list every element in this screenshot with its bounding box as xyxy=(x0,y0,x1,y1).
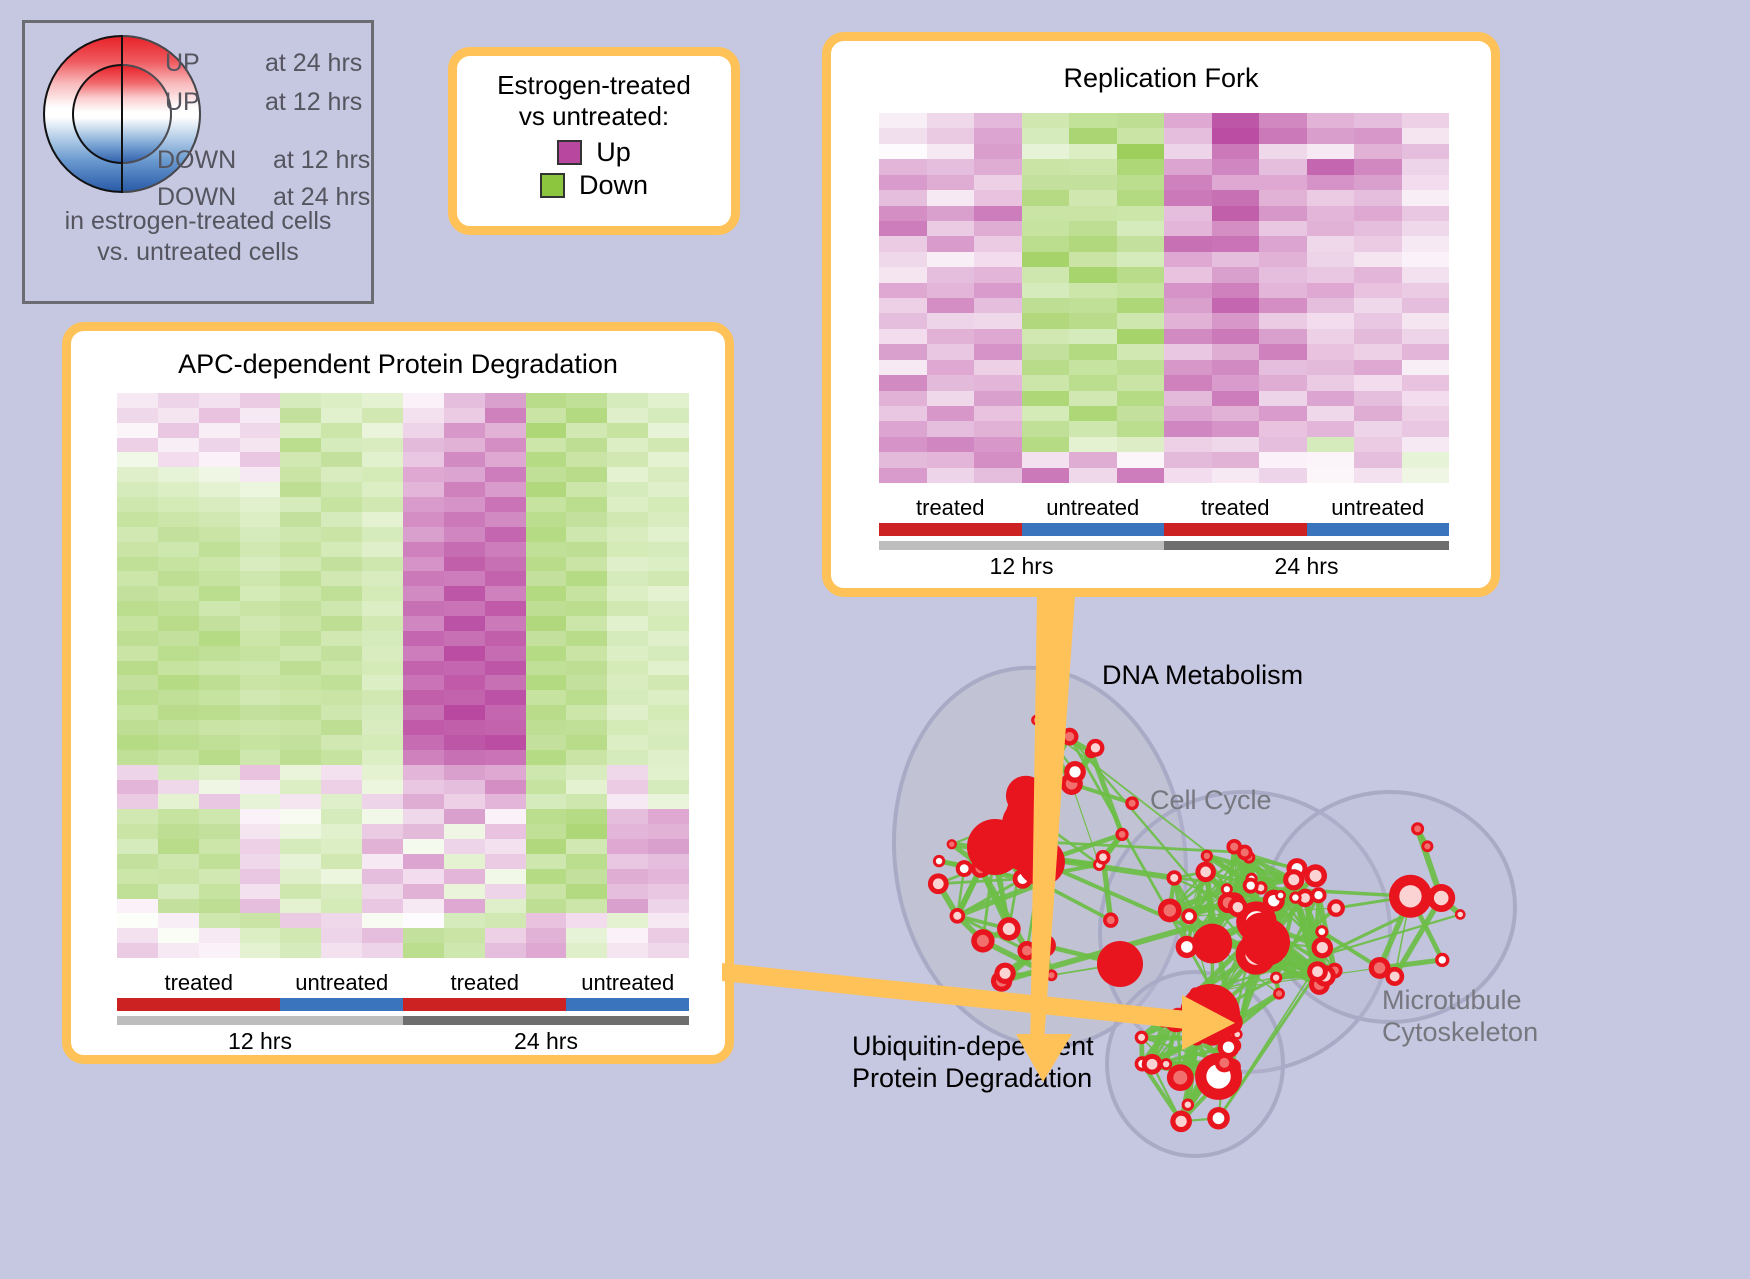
heatmap-cell xyxy=(240,467,281,482)
heatmap-cell xyxy=(444,646,485,661)
heatmap-cell xyxy=(485,571,526,586)
network-node[interactable] xyxy=(1218,892,1239,913)
heatmap-cell xyxy=(1354,252,1402,267)
network-node[interactable] xyxy=(1002,798,1054,850)
network-node[interactable] xyxy=(1167,1064,1194,1091)
heatmap-cell xyxy=(1354,128,1402,143)
network-edge xyxy=(1318,972,1326,976)
network-node[interactable] xyxy=(1455,909,1466,920)
network-edge xyxy=(1206,872,1262,931)
heatmap-cell xyxy=(1307,421,1355,436)
network-node[interactable] xyxy=(1195,862,1216,883)
network-edge xyxy=(952,844,1174,878)
heatmap-cell xyxy=(526,720,567,735)
heatmap-cell xyxy=(607,913,648,928)
network-edge xyxy=(1219,972,1318,1119)
network-node[interactable] xyxy=(1093,858,1106,871)
network-node[interactable] xyxy=(1314,965,1336,987)
heatmap-cell xyxy=(648,780,689,795)
heatmap-cell xyxy=(648,571,689,586)
network-edge xyxy=(1206,856,1207,872)
heatmap-cell xyxy=(117,557,158,572)
network-node[interactable] xyxy=(971,856,992,877)
network-edge xyxy=(1228,852,1245,902)
network-node[interactable] xyxy=(1296,889,1315,908)
network-node[interactable] xyxy=(991,970,1012,991)
heatmap-cell xyxy=(403,735,444,750)
network-node[interactable] xyxy=(1243,851,1255,863)
heatmap-cell xyxy=(1022,159,1070,174)
network-node[interactable] xyxy=(1289,891,1301,903)
heatmap-cell xyxy=(362,542,403,557)
network-node[interactable] xyxy=(1160,1058,1172,1070)
heatmap-cell xyxy=(158,675,199,690)
heatmap-cell xyxy=(566,452,607,467)
heatmap-cell xyxy=(1022,252,1070,267)
network-node[interactable] xyxy=(1225,1028,1235,1038)
network-node[interactable] xyxy=(1221,883,1233,895)
network-edge xyxy=(1037,720,1075,772)
network-node[interactable] xyxy=(928,873,949,894)
network-node[interactable] xyxy=(1034,877,1046,889)
heatmap-cell xyxy=(1212,298,1260,313)
network-edge xyxy=(1210,978,1276,1014)
heatmap-cell xyxy=(362,616,403,631)
heatmap-cell xyxy=(1212,190,1260,205)
network-node[interactable] xyxy=(1217,1036,1239,1058)
network-node[interactable] xyxy=(971,859,990,878)
network-node[interactable] xyxy=(1018,838,1065,885)
network-node[interactable] xyxy=(1060,773,1082,795)
network-node[interactable] xyxy=(1236,934,1277,975)
network-node[interactable] xyxy=(1006,839,1038,871)
heatmap-cell xyxy=(1069,360,1117,375)
network-node[interactable] xyxy=(1061,728,1079,746)
heatmap-cell xyxy=(1022,360,1070,375)
network-node[interactable] xyxy=(971,929,994,952)
heatmap-cell xyxy=(1069,283,1117,298)
heatmap-cell xyxy=(199,497,240,512)
network-node[interactable] xyxy=(947,839,957,849)
network-node[interactable] xyxy=(1421,840,1433,852)
heatmap-cell xyxy=(1402,144,1450,159)
network-node[interactable] xyxy=(1369,957,1391,979)
network-node[interactable] xyxy=(1309,974,1330,995)
network-node[interactable] xyxy=(1103,912,1118,927)
network-node[interactable] xyxy=(1180,984,1240,1044)
network-edge xyxy=(1180,1009,1199,1077)
heatmap-cell xyxy=(607,765,648,780)
heatmap-cell xyxy=(566,482,607,497)
network-edge xyxy=(1252,879,1294,880)
network-node[interactable] xyxy=(1064,761,1086,783)
network-edge xyxy=(983,929,1009,941)
network-edge xyxy=(980,868,1008,929)
network-node[interactable] xyxy=(950,908,966,924)
network-node[interactable] xyxy=(1192,924,1232,964)
heatmap-cell xyxy=(158,720,199,735)
heatmap-cell xyxy=(927,406,975,421)
network-node[interactable] xyxy=(1245,873,1257,885)
network-node[interactable] xyxy=(1307,961,1328,982)
network-node[interactable] xyxy=(1176,936,1198,958)
network-edge xyxy=(1210,1014,1213,1035)
heatmap-cell xyxy=(321,601,362,616)
heatmap-cell xyxy=(526,646,567,661)
network-node[interactable] xyxy=(933,855,945,867)
heatmap-cell xyxy=(199,869,240,884)
network-node[interactable] xyxy=(1142,1054,1163,1075)
network-node[interactable] xyxy=(1013,797,1047,831)
heatmap-cell xyxy=(240,675,281,690)
heatmap-cell xyxy=(648,646,689,661)
heatmap-cell xyxy=(566,423,607,438)
network-node[interactable] xyxy=(1308,963,1321,976)
network-edge xyxy=(1023,862,1042,879)
heatmap-cell xyxy=(199,794,240,809)
heatmap-cell xyxy=(444,839,485,854)
network-edge xyxy=(1418,829,1442,898)
heatmap-cell xyxy=(1117,252,1165,267)
heatmap-cell xyxy=(199,452,240,467)
heatmap-cell xyxy=(158,393,199,408)
network-node[interactable] xyxy=(1006,776,1046,816)
network-node[interactable] xyxy=(1135,1056,1150,1071)
heatmap-cell xyxy=(526,690,567,705)
network-node[interactable] xyxy=(1170,1111,1192,1133)
heatmap-cell xyxy=(927,375,975,390)
heatmap-cell xyxy=(1402,344,1450,359)
heatmap-cell xyxy=(362,765,403,780)
network-node[interactable] xyxy=(1275,890,1286,901)
heatmap-cell xyxy=(403,571,444,586)
heatmap-cell xyxy=(158,512,199,527)
heatmap-cell xyxy=(927,360,975,375)
network-edge xyxy=(1189,916,1256,954)
heatmap-cell xyxy=(879,344,927,359)
network-node[interactable] xyxy=(1242,918,1290,966)
heatmap-cell xyxy=(927,144,975,159)
heatmap-cell xyxy=(117,705,158,720)
heatmap-cell xyxy=(1069,206,1117,221)
network-node[interactable] xyxy=(1270,972,1282,984)
network-edge xyxy=(1336,896,1410,908)
heatmap-cell xyxy=(240,631,281,646)
network-node[interactable] xyxy=(1232,1029,1243,1040)
heatmap-cell xyxy=(321,943,362,958)
network-node[interactable] xyxy=(1006,792,1052,838)
heatmap-cell xyxy=(321,794,362,809)
heatmap-cell xyxy=(1117,344,1165,359)
network-node[interactable] xyxy=(1190,987,1202,999)
heatmap-cell xyxy=(403,765,444,780)
network-node[interactable] xyxy=(1263,890,1285,912)
heatmap-cell xyxy=(879,128,927,143)
heatmap-cell xyxy=(1022,406,1070,421)
heatmap-cell xyxy=(1212,391,1260,406)
network-edge xyxy=(1251,886,1296,898)
network-edge xyxy=(1251,886,1281,896)
network-edge xyxy=(1234,903,1266,942)
legend-item-up: Up xyxy=(457,137,731,168)
network-edge xyxy=(1238,886,1251,908)
heatmap-cell xyxy=(117,824,158,839)
network-node[interactable] xyxy=(1243,878,1259,894)
network-edge xyxy=(957,883,1040,916)
heatmap-cell xyxy=(403,943,444,958)
heatmap-cell xyxy=(648,869,689,884)
heatmap-cell xyxy=(566,869,607,884)
network-node[interactable] xyxy=(1435,953,1449,967)
network-node[interactable] xyxy=(1201,850,1213,862)
network-node[interactable] xyxy=(988,839,1007,858)
network-node[interactable] xyxy=(1311,887,1327,903)
heatmap-cell xyxy=(1069,175,1117,190)
network-edge xyxy=(1189,879,1251,917)
network-node[interactable] xyxy=(1273,988,1285,1000)
cluster-halo xyxy=(1107,972,1283,1156)
network-edge xyxy=(1234,886,1251,904)
heatmap-cell xyxy=(321,928,362,943)
heatmap-cell xyxy=(1022,221,1070,236)
heatmap-cell xyxy=(1212,313,1260,328)
network-node[interactable] xyxy=(1226,1059,1241,1074)
heatmap-cell xyxy=(879,236,927,251)
heatmap-cell xyxy=(1164,437,1212,452)
heatmap-cell xyxy=(1402,298,1450,313)
network-node[interactable] xyxy=(1017,941,1036,960)
network-node[interactable] xyxy=(1167,870,1182,885)
network-node[interactable] xyxy=(1097,941,1143,987)
heatmap-cell xyxy=(1022,113,1070,128)
heatmap-cell xyxy=(1022,175,1070,190)
network-node[interactable] xyxy=(994,963,1015,984)
network-node[interactable] xyxy=(1304,864,1327,887)
heatmap-cell xyxy=(1212,329,1260,344)
heatmap-cell xyxy=(321,780,362,795)
heatmap-cell xyxy=(280,408,321,423)
heatmap-cell xyxy=(879,267,927,282)
network-node[interactable] xyxy=(1254,881,1267,894)
heatmap-cell xyxy=(403,631,444,646)
network-edge xyxy=(1030,814,1041,884)
network-edge xyxy=(997,848,1041,883)
network-edge xyxy=(1206,872,1231,1022)
heatmap-cell xyxy=(648,438,689,453)
heatmap-cell xyxy=(1022,283,1070,298)
network-node[interactable] xyxy=(1181,908,1197,924)
heatmap-cell xyxy=(1259,113,1307,128)
network-node[interactable] xyxy=(1219,1010,1243,1034)
heatmap-cell xyxy=(974,437,1022,452)
network-node[interactable] xyxy=(1115,828,1128,841)
network-node[interactable] xyxy=(1411,822,1424,835)
heatmap-cell xyxy=(158,497,199,512)
network-edge xyxy=(1266,942,1318,972)
heatmap-cell xyxy=(1117,421,1165,436)
network-node[interactable] xyxy=(1312,937,1334,959)
network-node[interactable] xyxy=(1327,963,1343,979)
network-node[interactable] xyxy=(1031,715,1042,726)
heatmap-cell xyxy=(485,438,526,453)
network-node[interactable] xyxy=(1192,1002,1207,1017)
network-edge xyxy=(980,814,1029,869)
network-node[interactable] xyxy=(1215,1053,1234,1072)
network-node[interactable] xyxy=(1228,897,1248,917)
heatmap-cell xyxy=(403,393,444,408)
estrogen-legend-title: Estrogen-treated vs untreated: xyxy=(457,56,731,131)
heatmap-cell xyxy=(1402,391,1450,406)
network-node[interactable] xyxy=(1032,934,1056,958)
heatmap-cell xyxy=(199,482,240,497)
network-node[interactable] xyxy=(1156,1011,1173,1028)
heatmap-cell xyxy=(1164,252,1212,267)
group-label: untreated xyxy=(1307,495,1450,521)
heatmap-cell xyxy=(280,452,321,467)
network-node[interactable] xyxy=(1085,745,1098,758)
heatmap-cell xyxy=(607,586,648,601)
heatmap-cell xyxy=(879,298,927,313)
network-node[interactable] xyxy=(1226,1038,1241,1053)
network-edge xyxy=(1228,903,1261,932)
network-edge xyxy=(1027,946,1044,951)
network-edge xyxy=(1170,852,1245,910)
heatmap-cell xyxy=(117,646,158,661)
network-node[interactable] xyxy=(1195,1053,1242,1100)
network-node[interactable] xyxy=(977,827,1000,850)
heatmap-cell xyxy=(1259,298,1307,313)
heatmap-cell xyxy=(117,750,158,765)
network-node[interactable] xyxy=(1182,1098,1194,1110)
heatmap-cell xyxy=(362,586,403,601)
network-node[interactable] xyxy=(1287,858,1308,879)
heatmap-cell xyxy=(444,690,485,705)
network-node[interactable] xyxy=(1236,901,1277,942)
heatmap-cell xyxy=(1117,221,1165,236)
heatmap-cell xyxy=(927,437,975,452)
network-node[interactable] xyxy=(1086,739,1104,757)
network-node[interactable] xyxy=(1327,899,1345,917)
heatmap-cell xyxy=(1354,206,1402,221)
heatmap-cell xyxy=(607,646,648,661)
heatmap-cell xyxy=(485,884,526,899)
network-node[interactable] xyxy=(1158,898,1182,922)
network-edge xyxy=(1022,855,1099,865)
heatmap-cell xyxy=(526,527,567,542)
heatmap-cell xyxy=(879,406,927,421)
heatmap-cell xyxy=(403,482,444,497)
network-node[interactable] xyxy=(956,860,973,877)
network-edge xyxy=(1295,898,1319,985)
heatmap-cell xyxy=(485,661,526,676)
heatmap-cell xyxy=(117,527,158,542)
network-node[interactable] xyxy=(1223,892,1245,914)
heatmap-cell xyxy=(566,750,607,765)
network-edge xyxy=(1196,978,1277,994)
heatmap-cell xyxy=(240,542,281,557)
heatmap-cell xyxy=(927,421,975,436)
up-label: Up xyxy=(596,137,631,168)
heatmap-cell xyxy=(117,928,158,943)
apc-time-bar xyxy=(117,1016,689,1025)
heatmap-cell xyxy=(444,794,485,809)
heatmap-cell xyxy=(1069,252,1117,267)
network-node[interactable] xyxy=(1283,869,1304,890)
heatmap-cell xyxy=(526,750,567,765)
heatmap-cell xyxy=(566,913,607,928)
network-node[interactable] xyxy=(1125,796,1139,810)
network-node[interactable] xyxy=(997,917,1021,941)
network-node[interactable] xyxy=(1315,925,1328,938)
group-label: untreated xyxy=(566,970,689,996)
network-node[interactable] xyxy=(1237,845,1253,861)
heatmap-cell xyxy=(321,393,362,408)
heatmap-cell xyxy=(566,542,607,557)
heatmap-cell xyxy=(974,406,1022,421)
network-node[interactable] xyxy=(1427,884,1455,912)
network-edge xyxy=(1152,1047,1228,1064)
network-edge xyxy=(1274,901,1276,978)
heatmap-cell xyxy=(321,616,362,631)
network-edge xyxy=(1103,857,1111,920)
network-edge xyxy=(1245,852,1257,921)
heatmap-cell xyxy=(607,809,648,824)
heatmap-cell xyxy=(280,690,321,705)
heatmap-cell xyxy=(321,824,362,839)
network-edge xyxy=(1245,852,1266,942)
network-edge xyxy=(939,861,980,868)
heatmap-cell xyxy=(648,586,689,601)
heatmap-cell xyxy=(879,360,927,375)
group-label: untreated xyxy=(280,970,403,996)
heatmap-cell xyxy=(607,943,648,958)
network-edge xyxy=(1256,922,1322,948)
network-node[interactable] xyxy=(1190,1031,1204,1045)
heatmap-cell xyxy=(607,661,648,676)
network-node[interactable] xyxy=(1135,1031,1149,1045)
network-node[interactable] xyxy=(1205,995,1222,1012)
network-edge xyxy=(1166,1017,1178,1064)
heatmap-cell xyxy=(879,113,927,128)
network-node[interactable] xyxy=(1046,969,1058,981)
heatmap-cell xyxy=(566,467,607,482)
heatmap-cell xyxy=(240,646,281,661)
network-node[interactable] xyxy=(1207,1107,1230,1130)
network-edge xyxy=(1238,879,1252,907)
network-node[interactable] xyxy=(1242,912,1280,950)
heatmap-cell xyxy=(526,438,567,453)
network-node[interactable] xyxy=(967,819,1023,875)
network-node[interactable] xyxy=(1389,875,1432,918)
network-node[interactable] xyxy=(1169,1008,1187,1026)
apc-heatmap xyxy=(117,393,689,958)
heatmap-cell xyxy=(566,616,607,631)
heatmap-cell xyxy=(199,601,240,616)
heatmap-cell xyxy=(927,236,975,251)
network-edge xyxy=(1029,737,1070,815)
network-node[interactable] xyxy=(1013,869,1033,889)
network-node[interactable] xyxy=(1096,850,1111,865)
network-node[interactable] xyxy=(1221,1040,1231,1050)
network-node[interactable] xyxy=(1226,839,1242,855)
heatmap-cell xyxy=(280,438,321,453)
heatmap-cell xyxy=(362,452,403,467)
network-node[interactable] xyxy=(1164,1009,1187,1032)
heatmap-cell xyxy=(485,824,526,839)
key-footnote-line2: vs. untreated cells xyxy=(25,237,371,268)
network-node[interactable] xyxy=(1202,1025,1223,1046)
heatmap-cell xyxy=(158,601,199,616)
